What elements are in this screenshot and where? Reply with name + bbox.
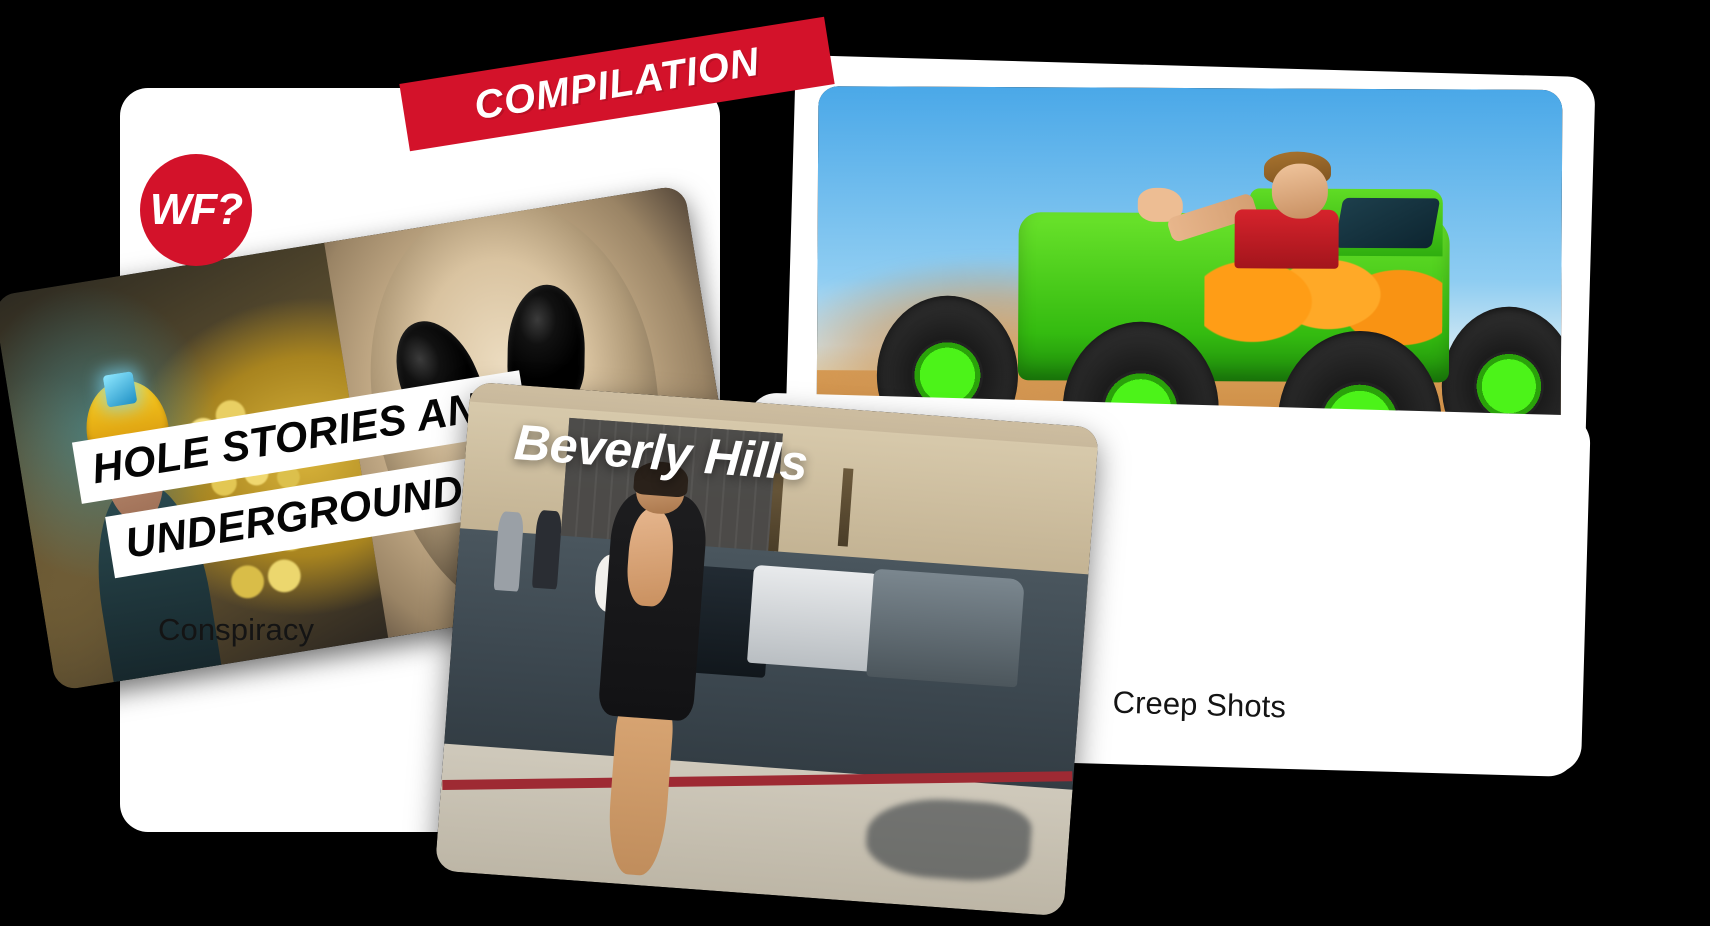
compilation-banner: COMPILATION: [399, 17, 834, 151]
parked-car: [747, 565, 886, 672]
card-label-creep-shots: Creep Shots: [1112, 685, 1286, 726]
truck-windshield: [1334, 198, 1440, 249]
wf-badge: WF?: [140, 154, 252, 266]
driver-head: [1272, 164, 1328, 219]
headlamp-icon: [103, 371, 137, 407]
thumbnail-beverly-hills[interactable]: Beverly Hills: [435, 382, 1099, 917]
card-stack-stage: Kids Waste Creep Shots: [0, 0, 1710, 926]
card-label-conspiracy: Conspiracy: [158, 612, 314, 648]
driver-shirt: [1234, 210, 1338, 269]
parked-car: [866, 568, 1025, 687]
flame-decal: [1204, 255, 1443, 348]
